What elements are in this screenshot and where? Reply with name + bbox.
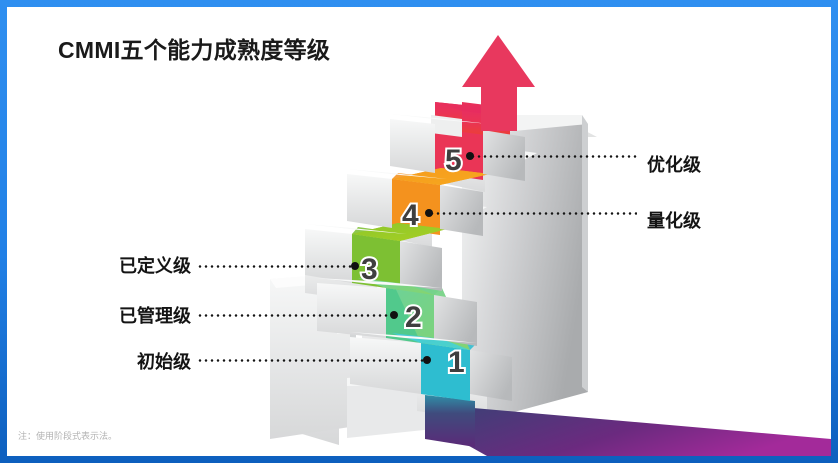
level-label-defined: 已定义级 [91, 252, 191, 278]
step-number-3: 3 3 [361, 255, 378, 285]
connector-dot-level4 [425, 209, 433, 217]
connector-line-level5 [470, 155, 637, 158]
connector-line-level1 [197, 359, 426, 362]
step-number-2: 2 2 [405, 303, 422, 333]
connector-dot-level3 [351, 262, 359, 270]
connector-dot-level2 [390, 311, 398, 319]
footnote: 注：使用阶段式表示法。 [18, 429, 117, 442]
level-label-quantitative: 量化级 [647, 207, 701, 233]
slide-canvas: CMMI五个能力成熟度等级 [7, 7, 831, 456]
step-number-1: 1 1 [448, 348, 465, 378]
level-label-optimizing: 优化级 [647, 151, 701, 177]
connector-dot-level1 [423, 356, 431, 364]
step-number-4: 4 4 [402, 201, 419, 231]
connector-line-level3 [197, 265, 355, 268]
slide-frame: CMMI五个能力成熟度等级 [0, 0, 838, 463]
connector-line-level2 [197, 314, 393, 317]
level-label-initial: 初始级 [91, 348, 191, 374]
connector-dot-level5 [466, 152, 474, 160]
level-label-managed: 已管理级 [73, 302, 191, 328]
staircase-illustration [7, 7, 831, 456]
connector-line-level4 [429, 212, 637, 215]
step-number-5: 5 5 [445, 146, 462, 176]
